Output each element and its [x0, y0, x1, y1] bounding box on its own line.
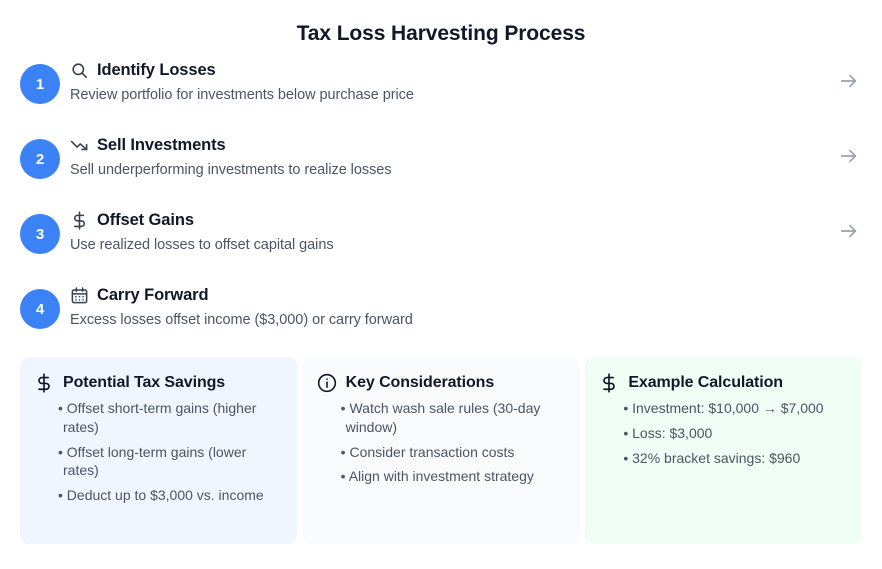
arrow-right-icon: [838, 70, 860, 92]
step-body-4: Carry Forward Excess losses offset incom…: [70, 281, 812, 328]
card-list-3: • Investment: $10,000 → $7,000 • Loss: $…: [599, 397, 844, 467]
arrow-right-icon: [838, 145, 860, 167]
tax-loss-harvesting-page: Tax Loss Harvesting Process 1 Identify L…: [0, 0, 882, 569]
list-item: • Deduct up to $3,000 vs. income: [63, 486, 279, 505]
card-title-1: Potential Tax Savings: [63, 374, 225, 392]
step-number-badge-4: 4: [20, 289, 60, 329]
search-icon: [70, 61, 89, 80]
dollar-sign-icon: [70, 211, 89, 230]
dollar-sign-icon: [34, 373, 54, 393]
step-body-3: Offset Gains Use realized losses to offs…: [70, 206, 812, 253]
list-item: • Watch wash sale rules (30-day window): [346, 399, 562, 437]
step-row-3[interactable]: 3 Offset Gains Use realized losses to of…: [0, 206, 882, 281]
card-title-3: Example Calculation: [628, 374, 783, 392]
step-row-1[interactable]: 1 Identify Losses Review portfolio for i…: [0, 56, 882, 131]
steps-list: 1 Identify Losses Review portfolio for i…: [0, 56, 882, 356]
step-number-badge-3: 3: [20, 214, 60, 254]
step-title-3: Offset Gains: [97, 211, 194, 230]
info-circle-icon: [317, 373, 337, 393]
calendar-icon: [70, 286, 89, 305]
card-key-considerations: Key Considerations • Watch wash sale rul…: [303, 357, 580, 544]
list-item: • Offset short-term gains (higher rates): [63, 399, 279, 437]
card-example-calculation: Example Calculation • Investment: $10,00…: [585, 357, 862, 544]
step-number-badge-2: 2: [20, 139, 60, 179]
step-header-3: Offset Gains: [70, 206, 812, 234]
card-list-1: • Offset short-term gains (higher rates)…: [34, 397, 279, 505]
list-item: • Consider transaction costs: [346, 443, 562, 462]
list-item: • Investment: $10,000 → $7,000: [628, 399, 844, 418]
card-header-2: Key Considerations: [317, 373, 562, 393]
dollar-sign-icon: [599, 373, 619, 393]
list-item: • Align with investment strategy: [346, 467, 562, 486]
list-item: • 32% bracket savings: $960: [628, 449, 844, 468]
step-number-badge-1: 1: [20, 64, 60, 104]
step-description-1: Review portfolio for investments below p…: [70, 87, 812, 103]
card-header-1: Potential Tax Savings: [34, 373, 279, 393]
step-body-2: Sell Investments Sell underperforming in…: [70, 131, 812, 178]
step-body-1: Identify Losses Review portfolio for inv…: [70, 56, 812, 103]
step-header-4: Carry Forward: [70, 281, 812, 309]
card-header-3: Example Calculation: [599, 373, 844, 393]
step-row-2[interactable]: 2 Sell Investments Sell underperforming …: [0, 131, 882, 206]
step-description-2: Sell underperforming investments to real…: [70, 162, 812, 178]
step-header-1: Identify Losses: [70, 56, 812, 84]
step-header-2: Sell Investments: [70, 131, 812, 159]
arrow-right-icon: [838, 220, 860, 242]
step-title-1: Identify Losses: [97, 61, 216, 80]
page-title: Tax Loss Harvesting Process: [0, 22, 882, 46]
card-list-2: • Watch wash sale rules (30-day window) …: [317, 397, 562, 486]
card-potential-tax-savings: Potential Tax Savings • Offset short-ter…: [20, 357, 297, 544]
list-item: • Loss: $3,000: [628, 424, 844, 443]
step-row-4[interactable]: 4: [0, 281, 882, 356]
trending-down-icon: [70, 136, 89, 155]
step-title-4: Carry Forward: [97, 286, 209, 305]
step-title-2: Sell Investments: [97, 136, 226, 155]
list-item: • Offset long-term gains (lower rates): [63, 443, 279, 481]
step-description-4: Excess losses offset income ($3,000) or …: [70, 312, 812, 328]
card-title-2: Key Considerations: [346, 374, 494, 392]
step-description-3: Use realized losses to offset capital ga…: [70, 237, 812, 253]
summary-cards: Potential Tax Savings • Offset short-ter…: [20, 357, 862, 544]
